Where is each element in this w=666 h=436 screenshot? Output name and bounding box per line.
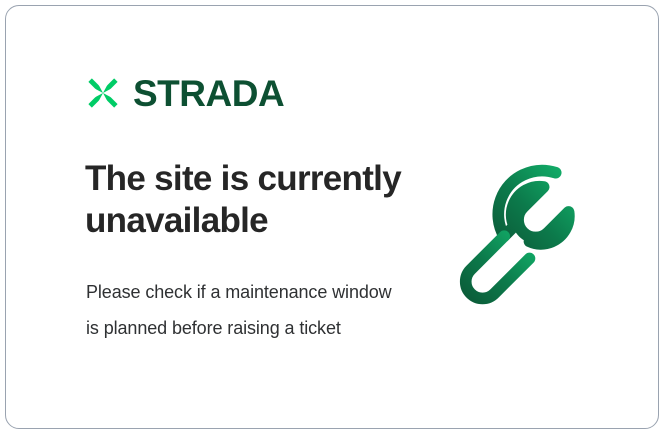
brand-logo: STRADA <box>84 74 284 112</box>
page-title: The site is currently unavailable <box>85 158 425 241</box>
brand-wordmark: STRADA <box>133 75 284 112</box>
maintenance-card: STRADA The site is currently unavailable… <box>5 5 659 429</box>
page-description: Please check if a maintenance window is … <box>86 274 401 346</box>
wrench-icon <box>458 158 620 316</box>
asterisk-star-icon <box>84 74 122 112</box>
